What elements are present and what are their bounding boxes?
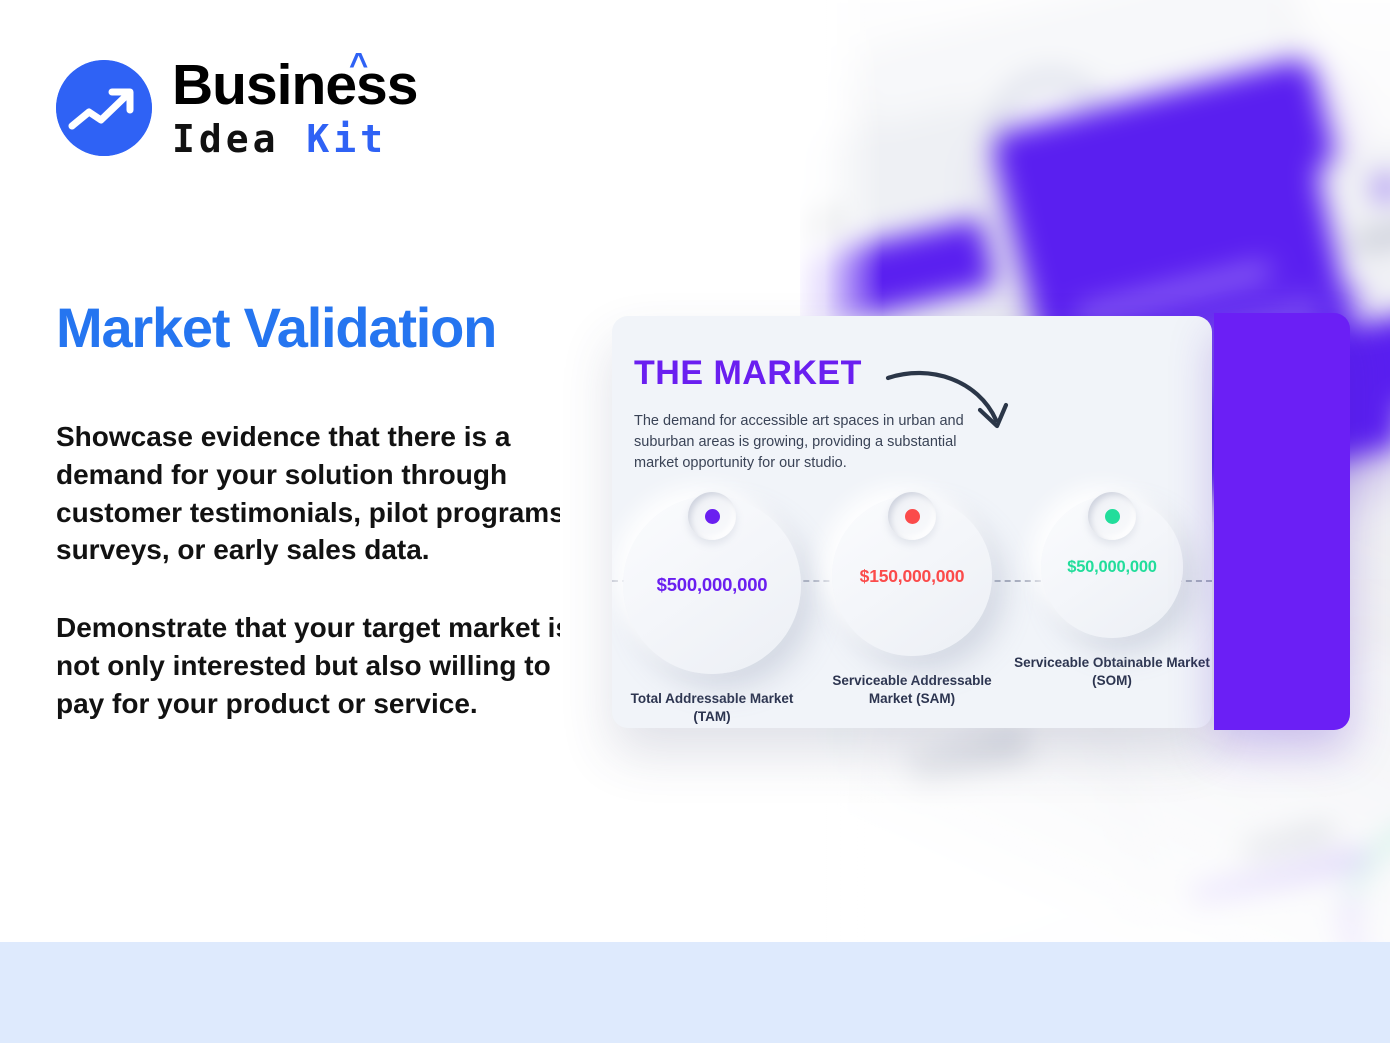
market-card-title: THE MARKET	[634, 354, 862, 393]
market-bubble-tam: $500,000,000	[623, 496, 801, 674]
brand-name-kit: Kit	[306, 117, 387, 161]
market-bubble-sam: $150,000,000	[832, 496, 992, 656]
brand-name-bottom: Idea Kit	[172, 120, 417, 158]
status-dot-green-icon	[1105, 509, 1120, 524]
body-copy: Showcase evidence that there is a demand…	[56, 418, 576, 723]
brand-wordmark: Business ^ Idea Kit	[172, 57, 417, 158]
market-label-tam: Total Addressable Market (TAM)	[612, 690, 812, 726]
market-dot-well-som	[1088, 492, 1136, 540]
brand-name-idea: Idea	[172, 117, 280, 161]
footer-band	[0, 942, 1390, 1043]
market-metrics-row: $500,000,000 Total Addressable Market (T…	[612, 496, 1212, 726]
brand-name-top-text: Business	[172, 53, 417, 117]
market-label-som: Serviceable Obtainable Market (SOM)	[1012, 654, 1212, 690]
bg-dot-purple-2	[1345, 290, 1363, 308]
slide-canvas: Business ^ Idea Kit Market Validation Sh…	[0, 0, 1390, 1043]
curved-arrow-down-right-icon	[884, 362, 1014, 438]
market-metric-tam: $500,000,000 Total Addressable Market (T…	[612, 496, 812, 726]
body-paragraph-2: Demonstrate that your target market is n…	[56, 609, 576, 722]
body-paragraph-1: Showcase evidence that there is a demand…	[56, 418, 576, 569]
market-metric-sam: $150,000,000 Serviceable Addressable Mar…	[812, 496, 1012, 726]
growth-arrow-chart-icon	[56, 60, 152, 156]
market-label-sam: Serviceable Addressable Market (SAM)	[812, 672, 1012, 708]
brand-name-top: Business ^	[172, 57, 417, 114]
brand-circumflex-accent: ^	[349, 48, 367, 81]
market-value-sam: $150,000,000	[860, 566, 965, 587]
status-dot-red-icon	[905, 509, 920, 524]
market-value-som: $50,000,000	[1067, 558, 1157, 577]
market-dot-well-sam	[888, 492, 936, 540]
market-card: THE MARKET The demand for accessible art…	[612, 316, 1212, 728]
status-dot-purple-icon	[705, 509, 720, 524]
bg-dot-green	[818, 725, 840, 747]
accent-purple-slab	[1214, 313, 1350, 730]
market-metric-som: $50,000,000 Serviceable Obtainable Marke…	[1012, 496, 1212, 726]
market-bubble-som: $50,000,000	[1041, 496, 1183, 638]
page-title: Market Validation	[56, 295, 496, 360]
market-value-tam: $500,000,000	[657, 574, 768, 596]
brand-logo: Business ^ Idea Kit	[56, 57, 417, 158]
market-dot-well-tam	[688, 492, 736, 540]
